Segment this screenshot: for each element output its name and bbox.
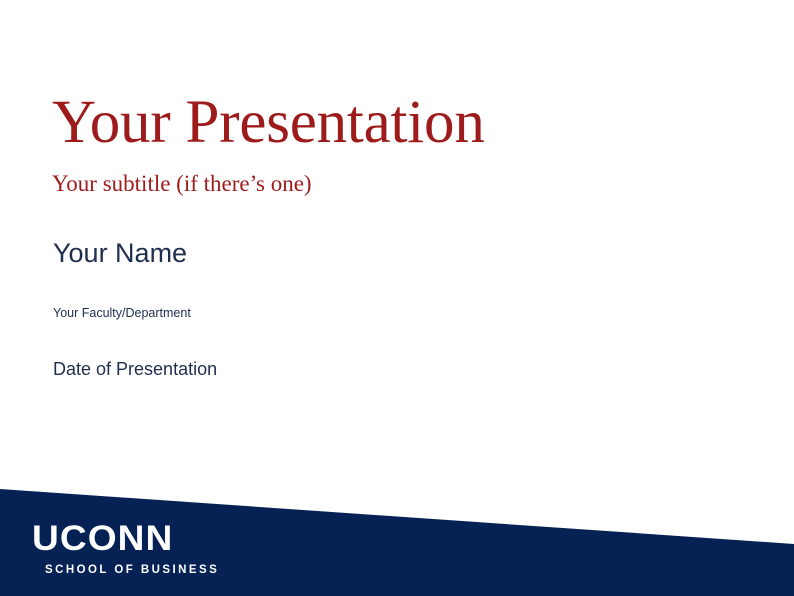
presentation-date: Date of Presentation	[53, 360, 673, 378]
title-block: Your Presentation Your subtitle (if ther…	[52, 92, 742, 195]
presenter-block: Your Name Your Faculty/Department Date o…	[53, 240, 673, 378]
slide-subtitle: Your subtitle (if there’s one)	[52, 172, 742, 195]
presenter-name: Your Name	[53, 240, 673, 267]
presenter-department: Your Faculty/Department	[53, 307, 673, 320]
presentation-slide: Your Presentation Your subtitle (if ther…	[0, 0, 794, 596]
uconn-wordmark: UCONN	[32, 521, 350, 556]
uconn-school-tagline: SCHOOL OF BUSINESS	[45, 565, 332, 577]
uconn-logo: UCONN SCHOOL OF BUSINESS	[32, 521, 332, 577]
page-title: Your Presentation	[52, 92, 742, 153]
